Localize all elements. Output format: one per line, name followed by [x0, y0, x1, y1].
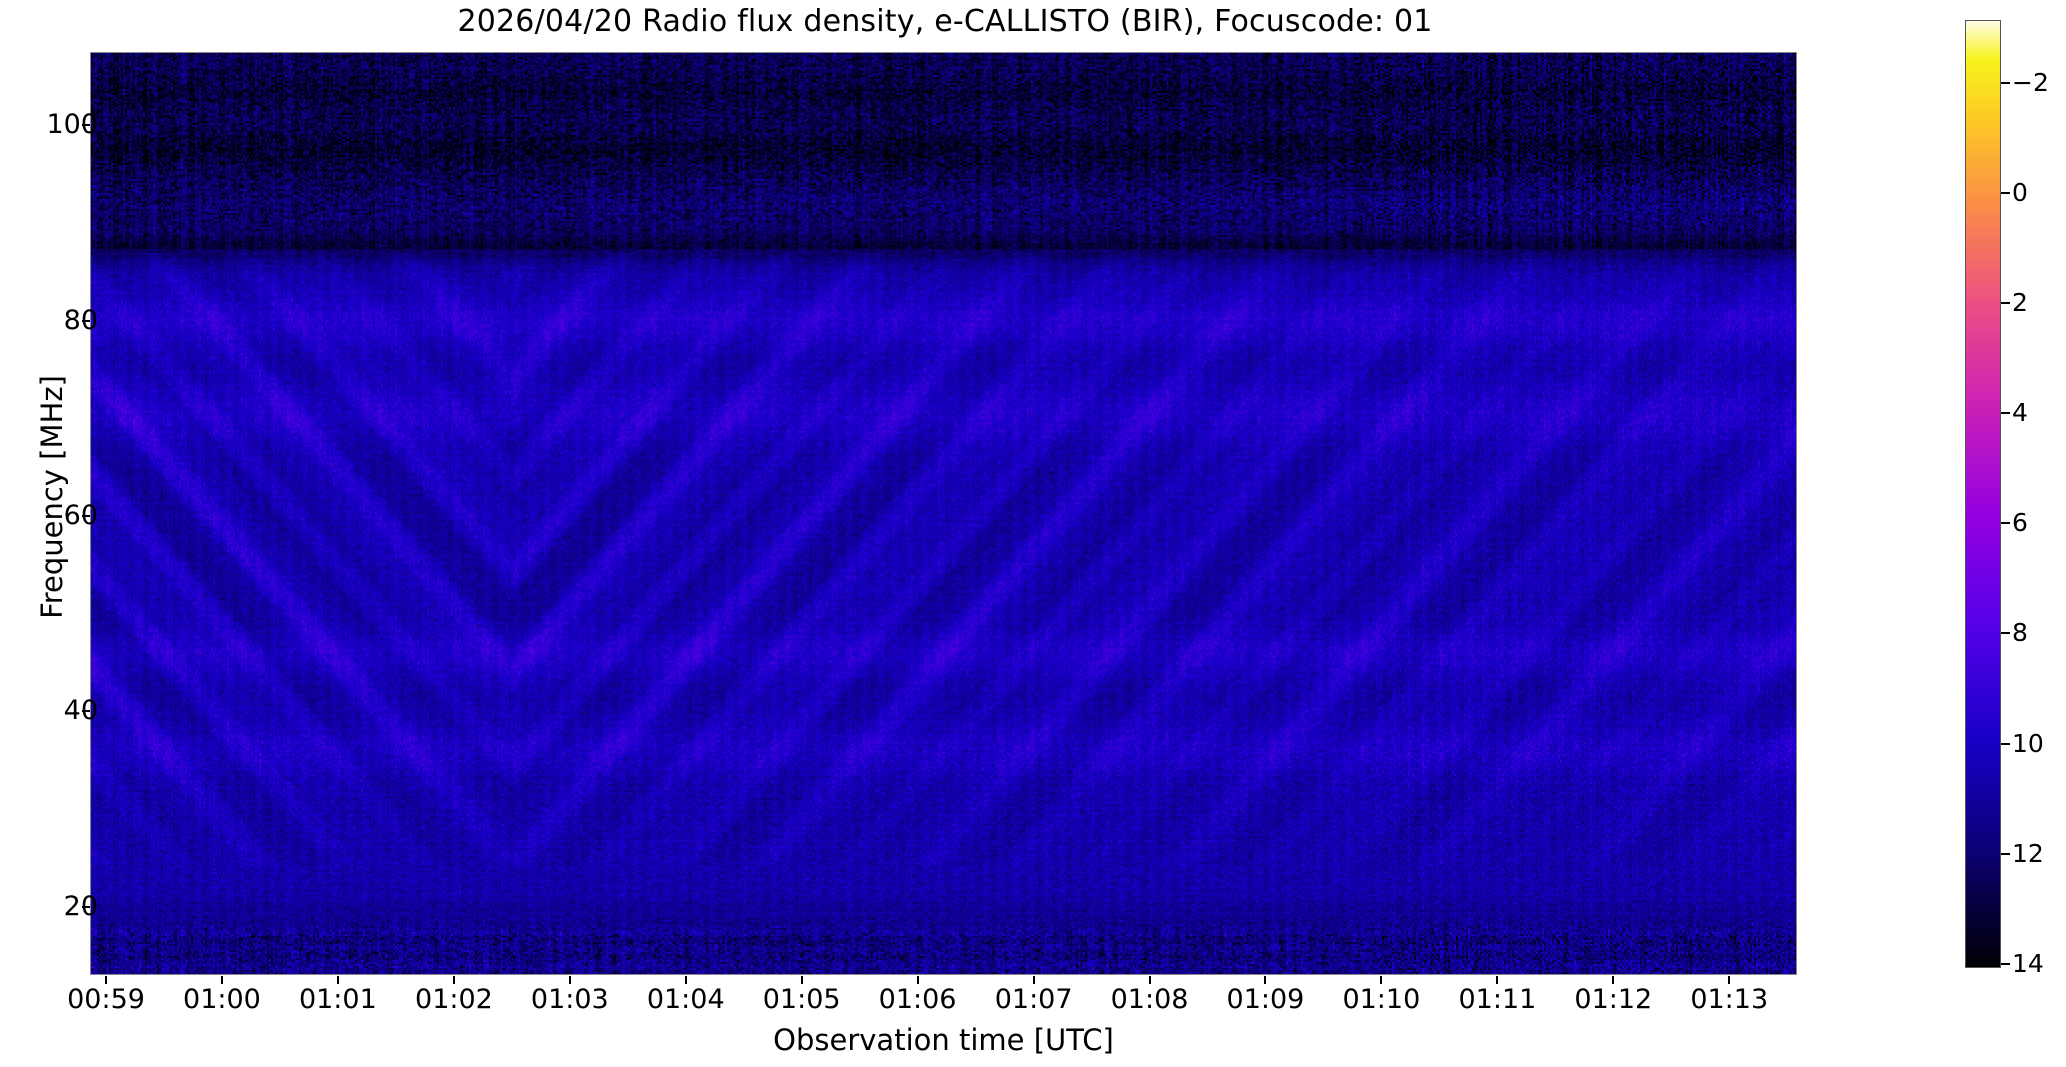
colorbar-tick-label: 2	[2012, 290, 2066, 315]
x-tick-mark	[1612, 976, 1614, 984]
x-tick-mark	[917, 976, 919, 984]
colorbar-tick-label: 6	[2012, 510, 2066, 535]
colorbar-tick-mark	[2001, 853, 2010, 855]
x-tick-mark	[453, 976, 455, 984]
colorbar-tick-label: 8	[2012, 620, 2066, 645]
colorbar-tick-mark	[2001, 302, 2010, 304]
page-title: 2026/04/20 Radio flux density, e-CALLIST…	[0, 4, 1890, 39]
colorbar-tick-label: 0	[2012, 180, 2066, 205]
spectrogram-figure: 2026/04/20 Radio flux density, e-CALLIST…	[0, 0, 2066, 1067]
y-tick-mark	[82, 124, 90, 126]
colorbar-tick-mark	[2001, 632, 2010, 634]
colorbar-tick-mark	[2001, 963, 2010, 965]
y-tick-mark	[82, 320, 90, 322]
colorbar-tick-label: 4	[2012, 400, 2066, 425]
colorbar-tick-label: 12	[2012, 841, 2066, 866]
colorbar-tick-label: 10	[2012, 731, 2066, 756]
x-tick-mark	[569, 976, 571, 984]
colorbar-tick-mark	[2001, 192, 2010, 194]
x-tick-mark	[337, 976, 339, 984]
spectrogram-image	[91, 53, 1796, 974]
x-axis-label: Observation time [UTC]	[90, 1023, 1797, 1057]
y-tick-mark	[82, 515, 90, 517]
colorbar-tick-mark	[2001, 743, 2010, 745]
x-tick-mark	[1033, 976, 1035, 984]
x-tick-mark	[801, 976, 803, 984]
colorbar-gradient	[1966, 21, 2000, 967]
colorbar-tick-mark	[2001, 522, 2010, 524]
colorbar-tick-mark	[2001, 412, 2010, 414]
y-tick-mark	[82, 906, 90, 908]
x-tick-mark	[1264, 976, 1266, 984]
x-tick-mark	[1149, 976, 1151, 984]
colorbar-tick-mark	[2001, 82, 2010, 84]
y-tick-mark	[82, 710, 90, 712]
x-tick-mark	[105, 976, 107, 984]
x-tick-mark	[1380, 976, 1382, 984]
x-tick-label: 01:13	[1659, 986, 1799, 1013]
colorbar-tick-label: 14	[2012, 951, 2066, 976]
x-tick-mark	[221, 976, 223, 984]
x-tick-mark	[685, 976, 687, 984]
spectrogram-plot-area	[90, 52, 1797, 975]
colorbar	[1965, 20, 2001, 968]
x-tick-mark	[1496, 976, 1498, 984]
x-tick-mark	[1728, 976, 1730, 984]
colorbar-tick-label: −2	[2012, 70, 2066, 95]
